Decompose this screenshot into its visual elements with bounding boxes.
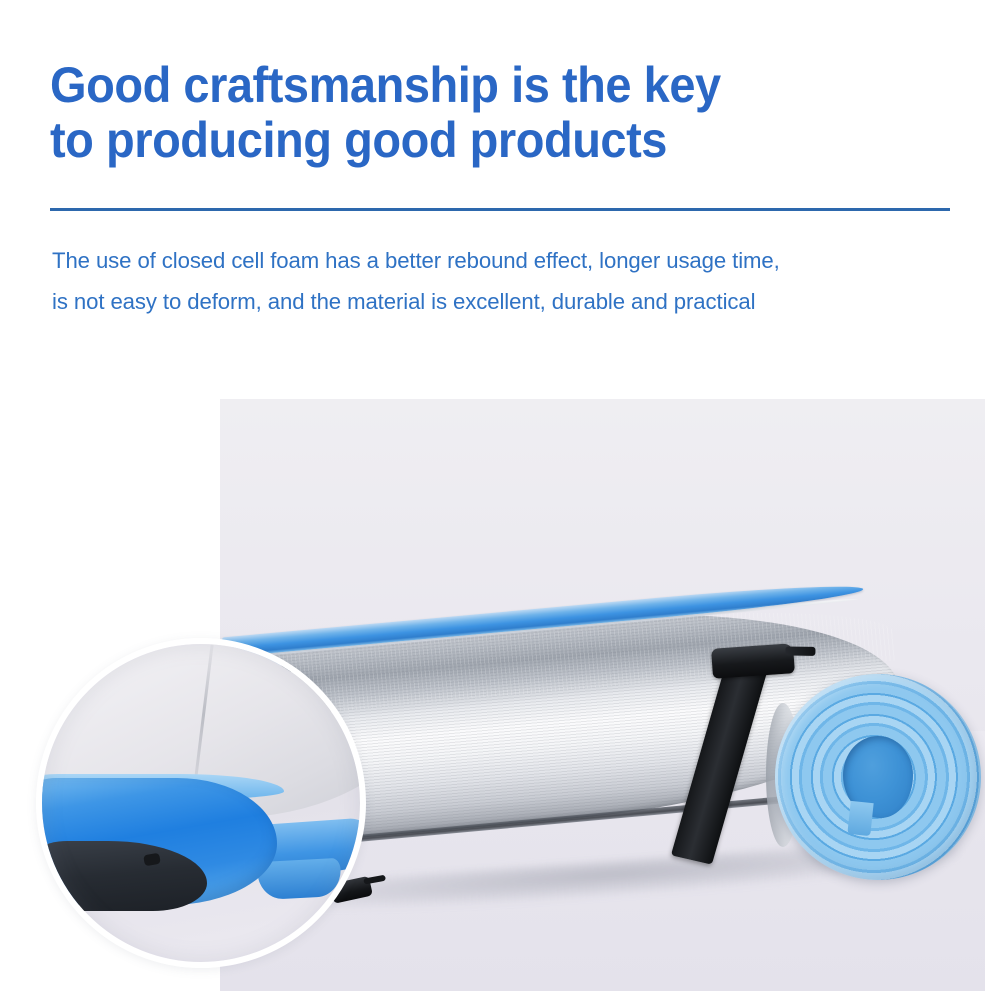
foam-spiral-coils	[775, 674, 981, 880]
title-divider	[50, 208, 950, 211]
strap-buckle	[711, 643, 795, 679]
product-feature-banner: Good craftsmanship is the key to produci…	[0, 0, 1001, 1001]
detail-inset-circle	[36, 638, 366, 968]
rolled-end-face	[775, 674, 981, 880]
buckle-tongue	[785, 646, 815, 656]
page-title: Good craftsmanship is the key to produci…	[50, 58, 896, 168]
subtitle-text: The use of closed cell foam has a better…	[52, 240, 939, 322]
spiral-inner-tail	[847, 801, 873, 836]
